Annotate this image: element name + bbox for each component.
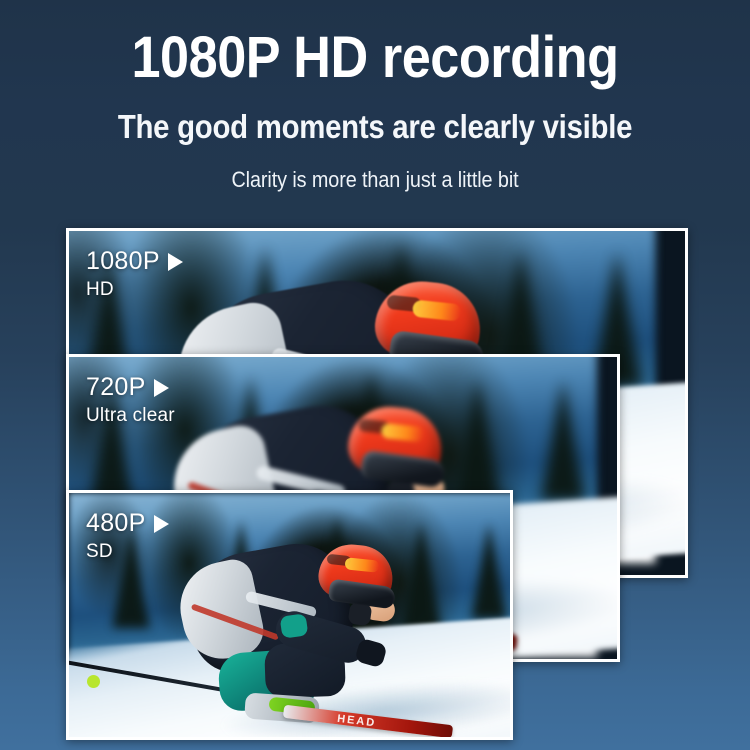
- skier-head: [319, 545, 393, 619]
- page-subtitle: The good moments are clearly visible: [41, 107, 709, 147]
- play-triangle-icon[interactable]: [154, 379, 169, 397]
- card-label-480p: 480P SD: [86, 509, 169, 564]
- quality-label: SD: [86, 540, 169, 564]
- page-title: 1080P HD recording: [38, 26, 713, 90]
- play-triangle-icon[interactable]: [154, 515, 169, 533]
- quality-label: Ultra clear: [86, 404, 175, 428]
- resolution-label: 1080P: [86, 247, 160, 275]
- product-feature-banner: 1080P HD recording The good moments are …: [0, 0, 750, 750]
- page-tagline: Clarity is more than just a little bit: [38, 165, 713, 195]
- resolution-label: 480P: [86, 509, 146, 537]
- quality-label: HD: [86, 278, 183, 302]
- video-card-480p[interactable]: HEAD 480P SD: [66, 490, 513, 740]
- card-label-1080p: 1080P HD: [86, 247, 183, 302]
- card-label-720p: 720P Ultra clear: [86, 373, 175, 428]
- play-triangle-icon[interactable]: [168, 253, 183, 271]
- skier-head: [349, 407, 442, 500]
- resolution-label: 720P: [86, 373, 146, 401]
